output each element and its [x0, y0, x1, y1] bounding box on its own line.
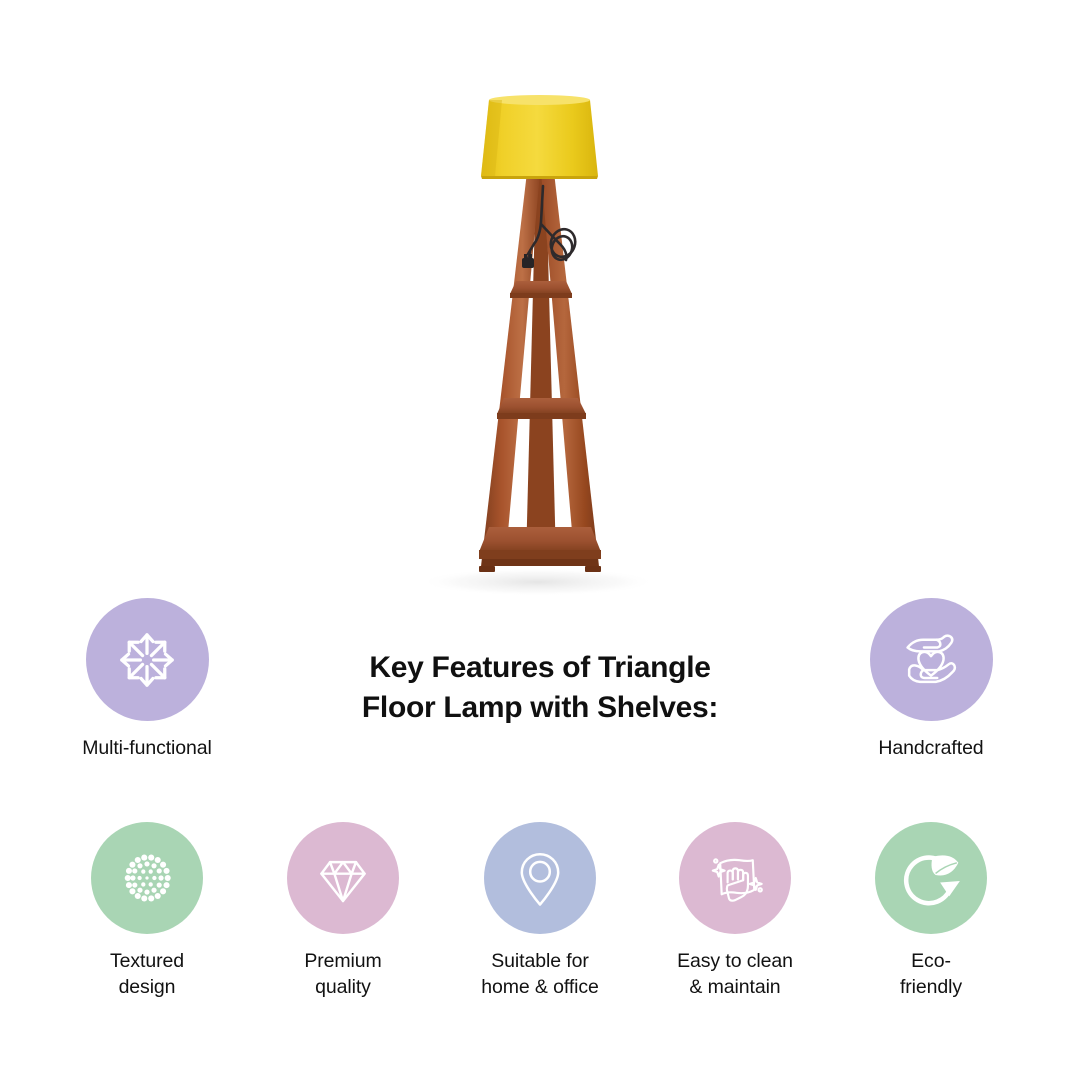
feature-textured-design: Textured design [52, 822, 242, 1000]
lamp-foot-left [479, 566, 495, 572]
feature-label-premium-quality: Premium quality [248, 948, 438, 1000]
feature-label-easy-to-clean: Easy to clean & maintain [640, 948, 830, 1000]
product-photo [0, 0, 1080, 600]
hand-wiping-cloth-icon [698, 841, 772, 915]
feature-premium-quality: Premium quality [248, 822, 438, 1000]
feature-icon-circle-textured-design [91, 822, 203, 934]
lamp-shelf-base-edge [479, 550, 601, 559]
lamp-shade-bottom-rim [481, 176, 598, 179]
feature-suitable-home-office: Suitable for home & office [445, 822, 635, 1000]
feature-label-line2: design [52, 974, 242, 1000]
feature-label-line2: & maintain [640, 974, 830, 1000]
feature-label-line2: quality [248, 974, 438, 1000]
map-pin-icon [505, 843, 575, 913]
lamp-shelf-middle [497, 398, 586, 414]
feature-handcrafted: Handcrafted [836, 598, 1026, 761]
floor-lamp-illustration [0, 0, 1080, 600]
feature-label-line1: Textured [110, 950, 184, 972]
lamp-base-plinth [482, 559, 598, 566]
infographic-page: Key Features of Triangle Floor Lamp with… [0, 0, 1080, 1080]
feature-easy-to-clean: Easy to clean & maintain [640, 822, 830, 1000]
diamond-icon [307, 842, 379, 914]
feature-label-line2: friendly [836, 974, 1026, 1000]
title-line-1: Key Features of Triangle [258, 648, 822, 688]
feature-eco-friendly: Eco- friendly [836, 822, 1026, 1000]
leaf-shape [932, 855, 959, 875]
feature-icon-circle-easy-to-clean [679, 822, 791, 934]
dot-texture-icon [110, 841, 184, 915]
feature-label-line2: home & office [445, 974, 635, 1000]
feature-label-line1: Premium [304, 950, 381, 972]
page-title: Key Features of Triangle Floor Lamp with… [258, 648, 822, 728]
floor-shadow [420, 568, 656, 596]
recycle-leaf-icon [893, 840, 969, 916]
lamp-shelf-upper [510, 281, 572, 294]
feature-icon-circle-handcrafted [870, 598, 993, 721]
hands-holding-heart-icon [892, 621, 970, 699]
feature-label-line1: Eco- [911, 950, 951, 972]
feature-label-line1: Handcrafted [878, 737, 983, 759]
feature-icon-circle-multi-functional [86, 598, 209, 721]
feature-label-line1: Easy to clean [677, 950, 793, 972]
feature-label-line1: Multi-functional [82, 737, 212, 759]
lamp-foot-right [585, 566, 601, 572]
feature-icon-circle-eco-friendly [875, 822, 987, 934]
recycle-arrowhead [940, 881, 960, 896]
feature-label-line1: Suitable for [491, 950, 588, 972]
feature-label-textured-design: Textured design [52, 948, 242, 1000]
lamp-shade-top-rim [489, 95, 590, 105]
title-line-2: Floor Lamp with Shelves: [258, 688, 822, 728]
lamp-shelf-base [479, 527, 601, 552]
feature-label-handcrafted: Handcrafted [836, 735, 1026, 761]
lamp-shelf-upper-edge [510, 293, 572, 298]
multi-direction-arrows-icon [110, 623, 184, 697]
feature-label-suitable-home-office: Suitable for home & office [445, 948, 635, 1000]
feature-label-multi-functional: Multi-functional [52, 735, 242, 761]
feature-multi-functional: Multi-functional [52, 598, 242, 761]
feature-icon-circle-premium-quality [287, 822, 399, 934]
lamp-shelf-middle-edge [497, 413, 586, 419]
feature-label-eco-friendly: Eco- friendly [836, 948, 1026, 1000]
feature-icon-circle-suitable-home-office [484, 822, 596, 934]
